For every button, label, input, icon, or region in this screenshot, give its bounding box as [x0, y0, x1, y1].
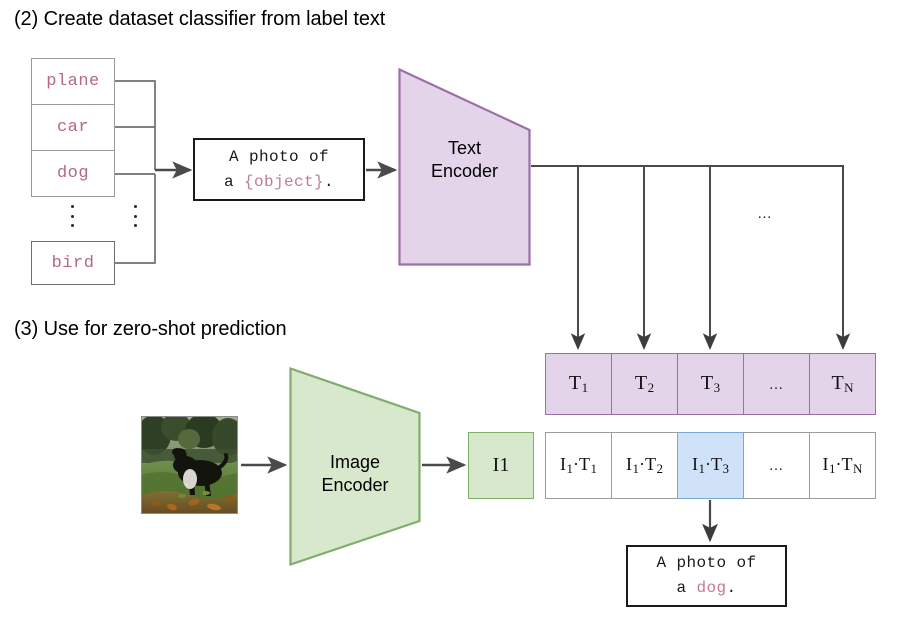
figure-canvas: (2) Create dataset classifier from label…	[0, 0, 906, 624]
connector-layer	[0, 0, 906, 624]
label-bus-lines	[115, 81, 155, 263]
text-embedding-drop-arrows	[578, 166, 843, 348]
